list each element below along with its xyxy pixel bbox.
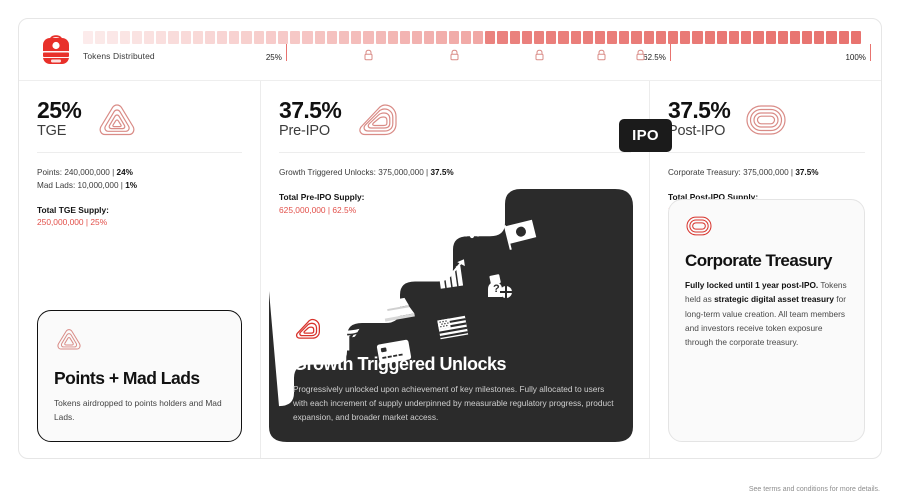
progress-dash	[668, 31, 678, 44]
tge-percent: 25%	[37, 99, 81, 122]
progress-dash	[741, 31, 751, 44]
progress-dash	[144, 31, 154, 44]
stat-label: Growth Triggered Unlocks:	[279, 168, 376, 177]
progress-dash	[95, 31, 105, 44]
stair-card-content: Growth Triggered Unlocks Progressively u…	[293, 317, 615, 424]
body-strong: Fully locked until 1 year post-IPO.	[685, 280, 818, 290]
progress-dash	[449, 31, 459, 44]
card-growth-triggered-unlocks[interactable]: ?	[269, 189, 633, 442]
triangle-rings-logo	[54, 327, 84, 352]
progress-dash	[363, 31, 373, 44]
stat-amount: 375,000,000	[378, 168, 424, 177]
padlock-icon	[449, 49, 460, 61]
progress-dash	[510, 31, 520, 44]
progress-dash	[790, 31, 800, 44]
stat-line: Points: 240,000,000 | 24%	[37, 167, 242, 180]
progress-dash	[412, 31, 422, 44]
progress-dash	[778, 31, 788, 44]
progress-dash	[327, 31, 337, 44]
progress-dash	[241, 31, 251, 44]
progress-dash	[120, 31, 130, 44]
progress-label: Tokens Distributed	[83, 51, 155, 61]
tick-value: 100%	[845, 53, 865, 62]
stat-label: Mad Lads:	[37, 181, 75, 190]
progress-tick: 100%	[845, 47, 865, 65]
progress-dash	[424, 31, 434, 44]
progress-dash	[217, 31, 227, 44]
progress-dash	[302, 31, 312, 44]
stat-amount: 375,000,000	[743, 168, 789, 177]
tick-line	[286, 44, 287, 61]
progress-dash	[156, 31, 166, 44]
progress-dash	[571, 31, 581, 44]
progress-dash	[485, 31, 495, 44]
stat-pct: 24%	[117, 168, 133, 177]
progress-dash	[205, 31, 215, 44]
progress-dash	[814, 31, 824, 44]
wedge-rings-logo	[355, 101, 401, 139]
pre-ipo-phase: Pre-IPO	[279, 123, 341, 139]
post-ipo-header: 37.5% Post-IPO	[650, 81, 883, 139]
stat-amount: 240,000,000	[64, 168, 110, 177]
tick-line	[870, 44, 871, 61]
card-body: Progressively unlocked upon achievement …	[293, 382, 615, 424]
padlock-icon	[534, 49, 545, 61]
total-label: Total TGE Supply:	[37, 204, 242, 217]
growth-chart-icon	[434, 259, 470, 291]
progress-dash	[680, 31, 690, 44]
progress-dash	[266, 31, 276, 44]
stat-amount: 10,000,000	[78, 181, 119, 190]
person-question-icon: ?	[482, 271, 516, 303]
progress-dash	[132, 31, 142, 44]
eu-flag-icon	[455, 207, 489, 241]
stat-line: Growth Triggered Unlocks: 375,000,000 | …	[279, 167, 631, 180]
padlock-icon	[363, 49, 374, 61]
progress-dash	[753, 31, 763, 44]
post-ipo-percent: 37.5%	[668, 99, 730, 122]
oval-rings-logo	[685, 214, 713, 238]
stat-label: Corporate Treasury:	[668, 168, 741, 177]
column-post-ipo: 37.5% Post-IPO Corp	[650, 81, 883, 458]
japan-flag-icon	[501, 217, 539, 251]
progress-dash	[339, 31, 349, 44]
progress-bar: Tokens Distributed 25%62.5%100%	[83, 29, 861, 73]
tick-value: 62.5%	[643, 53, 666, 62]
tick-value: 25%	[266, 53, 282, 62]
progress-dash	[351, 31, 361, 44]
progress-dash	[619, 31, 629, 44]
progress-dash	[644, 31, 654, 44]
stat-line: Mad Lads: 10,000,000 | 1%	[37, 180, 242, 193]
progress-dash	[400, 31, 410, 44]
columns-area: 25% TGE Points:	[19, 81, 881, 458]
tge-phase: TGE	[37, 123, 81, 139]
pre-ipo-header: 37.5% Pre-IPO	[261, 81, 649, 139]
card-title: Corporate Treasury	[685, 251, 848, 271]
svg-text:?: ?	[493, 283, 500, 295]
oval-rings-logo	[744, 101, 788, 139]
card-title: Points + Mad Lads	[54, 368, 225, 389]
card-body: Fully locked until 1 year post-IPO. Toke…	[685, 278, 848, 349]
card-corporate-treasury[interactable]: Corporate Treasury Fully locked until 1 …	[668, 199, 865, 442]
progress-strip: Tokens Distributed 25%62.5%100%	[19, 19, 881, 81]
progress-dash	[766, 31, 776, 44]
progress-dash	[631, 31, 641, 44]
stat-pct: 1%	[125, 181, 137, 190]
progress-dash	[181, 31, 191, 44]
padlock-icon	[596, 49, 607, 61]
progress-dash	[839, 31, 849, 44]
progress-dash	[461, 31, 471, 44]
padlock-icon	[635, 49, 646, 61]
progress-dash	[534, 31, 544, 44]
tge-stats: Points: 240,000,000 | 24% Mad Lads: 10,0…	[19, 153, 260, 229]
pre-ipo-percent: 37.5%	[279, 99, 341, 122]
progress-dash	[83, 31, 93, 44]
triangle-rings-logo	[95, 101, 139, 139]
stat-pct: 37.5%	[795, 168, 818, 177]
progress-dash	[278, 31, 288, 44]
tick-line	[670, 44, 671, 61]
progress-dash	[692, 31, 702, 44]
progress-dash	[656, 31, 666, 44]
progress-dashes	[83, 31, 861, 44]
progress-dash	[193, 31, 203, 44]
post-ipo-phase: Post-IPO	[668, 123, 730, 139]
progress-dash	[717, 31, 727, 44]
main-frame: Tokens Distributed 25%62.5%100% 25% TGE	[18, 18, 882, 459]
progress-dash	[168, 31, 178, 44]
stat-line: Corporate Treasury: 375,000,000 | 37.5%	[668, 167, 865, 180]
progress-dash	[705, 31, 715, 44]
tge-header: 25% TGE	[19, 81, 260, 139]
card-body: Tokens airdropped to points holders and …	[54, 397, 225, 425]
progress-dash	[607, 31, 617, 44]
progress-dash	[802, 31, 812, 44]
progress-dash	[388, 31, 398, 44]
progress-dash	[290, 31, 300, 44]
progress-dash	[497, 31, 507, 44]
stat-label: Points:	[37, 168, 62, 177]
card-title: Growth Triggered Unlocks	[293, 354, 615, 375]
progress-dash	[229, 31, 239, 44]
progress-dash	[376, 31, 386, 44]
progress-dash	[436, 31, 446, 44]
progress-dash	[254, 31, 264, 44]
footnote: See terms and conditions for more detail…	[749, 486, 880, 493]
progress-dash	[522, 31, 532, 44]
card-points-mad-lads[interactable]: Points + Mad Lads Tokens airdropped to p…	[37, 310, 242, 442]
backpack-icon	[39, 31, 73, 67]
tokenomics-infographic: Tokens Distributed 25%62.5%100% 25% TGE	[0, 0, 900, 499]
column-tge: 25% TGE Points:	[19, 81, 260, 458]
progress-dash	[546, 31, 556, 44]
progress-dash	[729, 31, 739, 44]
body-strong: strategic digital asset treasury	[714, 294, 834, 304]
progress-dash	[826, 31, 836, 44]
ipo-badge: IPO	[619, 119, 672, 152]
progress-dash	[315, 31, 325, 44]
progress-tick: 62.5%	[643, 47, 666, 65]
progress-dash	[851, 31, 861, 44]
progress-dash	[558, 31, 568, 44]
tge-total: Total TGE Supply: 250,000,000 | 25%	[37, 204, 242, 229]
progress-dash	[583, 31, 593, 44]
wedge-rings-logo	[293, 317, 323, 341]
progress-tick: 25%	[266, 47, 282, 65]
stat-pct: 37.5%	[430, 168, 453, 177]
progress-dash	[107, 31, 117, 44]
progress-dash	[595, 31, 605, 44]
column-pre-ipo: 37.5% Pre-IPO Growt	[261, 81, 649, 458]
progress-dash	[473, 31, 483, 44]
total-value: 250,000,000 | 25%	[37, 216, 242, 229]
